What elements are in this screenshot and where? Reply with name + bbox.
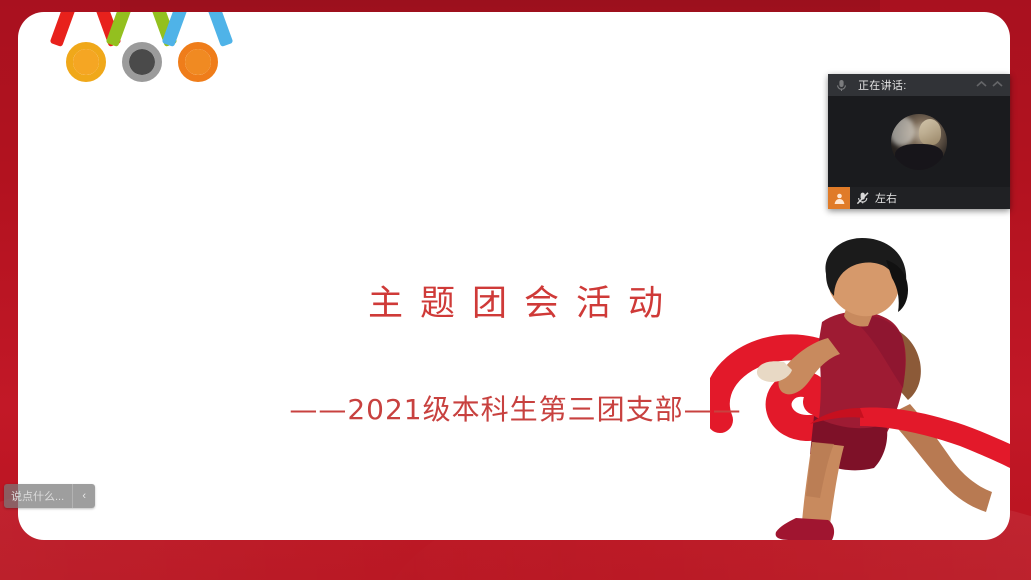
video-panel-footer: 左右 xyxy=(828,187,1010,209)
video-panel-header-actions[interactable] xyxy=(975,78,1004,91)
video-stream-area[interactable] xyxy=(828,96,1010,187)
video-panel-header: 正在讲话: xyxy=(828,74,1010,96)
participant-avatar-photo xyxy=(891,114,947,170)
slide-department-line: ——2021级本科生第三团支部—— xyxy=(0,396,1031,424)
speaker-video-panel[interactable]: 正在讲话: xyxy=(828,74,1010,209)
silver-medal-disc xyxy=(122,42,162,82)
avatar-highlight xyxy=(891,116,915,146)
mic-muted-icon[interactable] xyxy=(853,191,873,205)
screen-share-view: 一起向未来 主题团会活动 ——2021级本科生第三团支部—— 说点什么... ‹… xyxy=(0,0,1031,580)
bronze-medal-ribbon-right xyxy=(203,12,233,47)
avatar-torso xyxy=(895,144,943,170)
chat-input-placeholder[interactable]: 说点什么... xyxy=(4,484,72,508)
avatar-hair xyxy=(919,119,941,145)
bronze-medal xyxy=(170,12,226,102)
running-athlete-illustration xyxy=(710,230,1010,540)
chevron-left-icon[interactable]: ‹ xyxy=(72,484,95,508)
silver-medal xyxy=(114,12,170,102)
expand-icon[interactable] xyxy=(991,78,1004,91)
microphone-icon xyxy=(834,78,848,92)
gold-medal xyxy=(58,12,114,102)
participant-name: 左右 xyxy=(875,190,897,206)
gold-medal-ribbon-left xyxy=(50,12,80,47)
gold-medal-disc xyxy=(66,42,106,82)
slide-subtitle: 主题团会活动 xyxy=(0,287,1031,322)
medals-group xyxy=(36,12,226,107)
video-panel-title: 正在讲话: xyxy=(858,77,907,93)
person-icon xyxy=(828,187,850,209)
chat-input-bar[interactable]: 说点什么... ‹ xyxy=(4,484,95,508)
minimize-icon[interactable] xyxy=(975,78,988,91)
bronze-medal-disc xyxy=(178,42,218,82)
